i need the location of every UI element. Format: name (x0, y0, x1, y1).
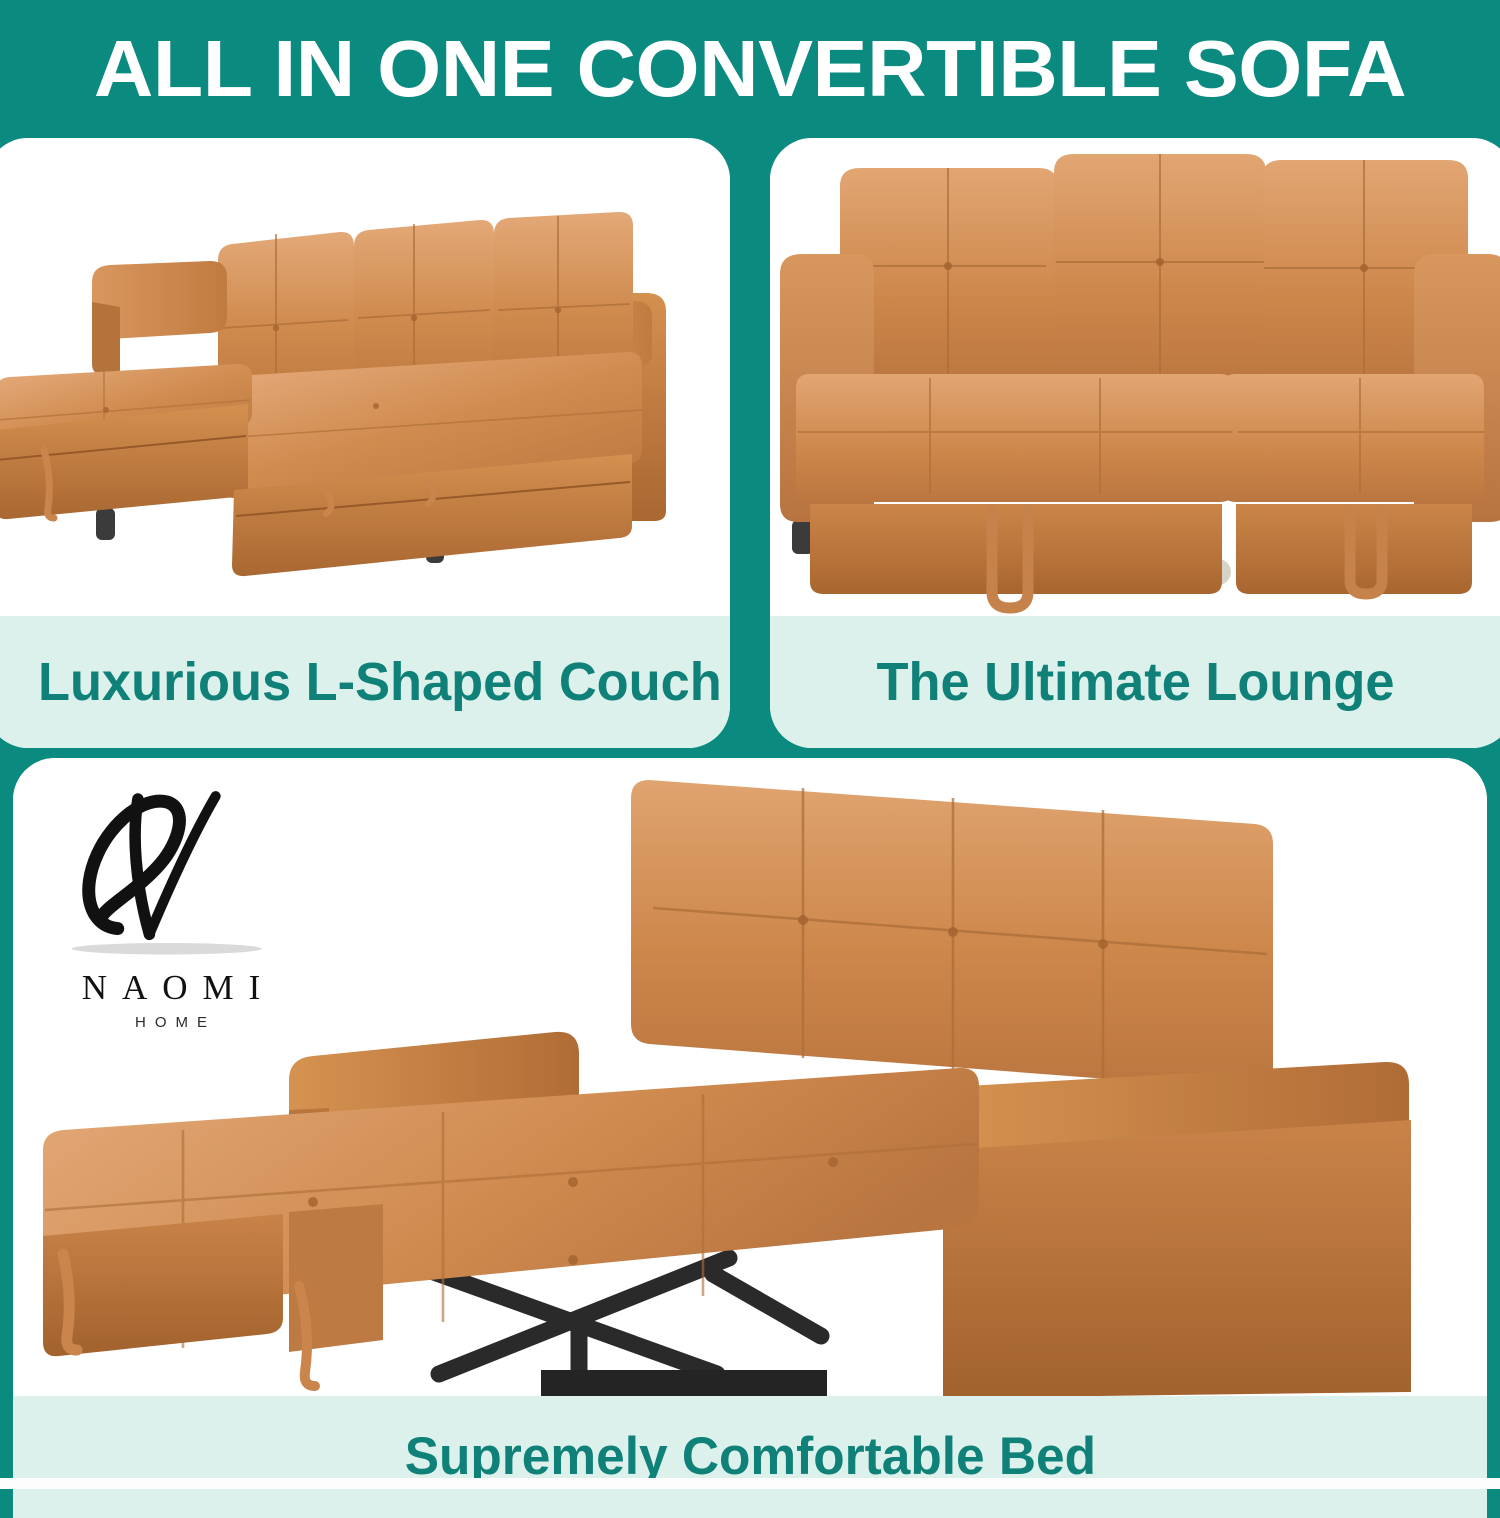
bed-frame-base (541, 1370, 827, 1396)
caption-text: The Ultimate Lounge (780, 654, 1395, 710)
card-l-shaped-couch: Luxurious L-Shaped Couch (0, 138, 730, 748)
poster-header: ALL IN ONE CONVERTIBLE SOFA (0, 0, 1500, 138)
sofa-bed-illustration (13, 758, 1487, 1396)
product-photo-comfortable-bed: NAOMI HOME (13, 758, 1487, 1396)
card-comfortable-bed: NAOMI HOME Supremely Comfortable Bed (13, 758, 1487, 1518)
sofa-seat-right (1222, 374, 1484, 502)
bed-side-panel (943, 1120, 1411, 1396)
caption-text: Luxurious L-Shaped Couch (0, 654, 722, 710)
sofa-base-left (810, 504, 1222, 594)
page-title: ALL IN ONE CONVERTIBLE SOFA (94, 29, 1406, 109)
product-photo-ultimate-lounge (770, 138, 1500, 616)
sofa-seat-left (796, 374, 1234, 502)
caption-text: Supremely Comfortable Bed (404, 1429, 1095, 1485)
product-photo-l-shaped-couch (0, 138, 730, 616)
bed-metal-frame (417, 1258, 821, 1376)
sofa-lshape-illustration (0, 138, 730, 616)
caption-band-l-shaped-couch: Luxurious L-Shaped Couch (0, 616, 730, 748)
bed-front-skirt (43, 1214, 283, 1356)
card-ultimate-lounge: The Ultimate Lounge (770, 138, 1500, 748)
bottom-edge-strip (0, 1478, 1500, 1489)
caption-band-comfortable-bed: Supremely Comfortable Bed (13, 1396, 1487, 1518)
caption-band-ultimate-lounge: The Ultimate Lounge (770, 616, 1500, 748)
poster-root: ALL IN ONE CONVERTIBLE SOFA (0, 0, 1500, 1489)
sofa-front-illustration (770, 138, 1500, 616)
sofa-back-cushions (840, 154, 1468, 386)
